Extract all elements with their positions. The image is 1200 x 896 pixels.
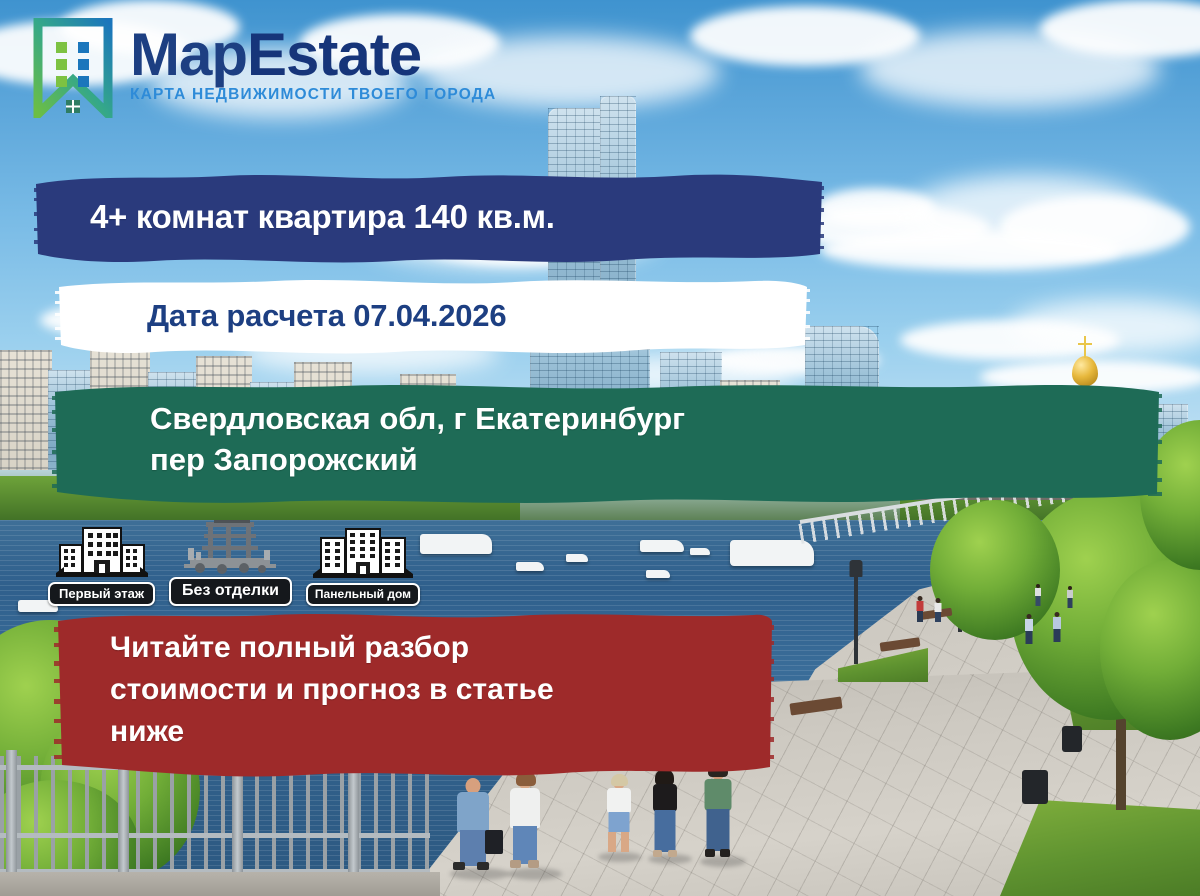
badge-panel-house[interactable]: Панельный дом (306, 524, 420, 606)
brand-title: MapEstate (130, 26, 496, 84)
banner-cta-line2: стоимости и прогноз в статье (110, 669, 554, 711)
banner-cta: Читайте полный разбор стоимости и прогно… (54, 605, 774, 785)
unfinished-building-icon (178, 518, 282, 574)
banner-cta-line1: Читайте полный разбор (110, 627, 554, 669)
banner-cta-text: Читайте полный разбор стоимости и прогно… (110, 627, 554, 753)
badge-no-finishing[interactable]: Без отделки (169, 518, 292, 606)
panel-highrise-icon (313, 524, 413, 580)
banner-rooms-text: 4+ комнат квартира 140 кв.м. (90, 198, 555, 236)
badge-icon-wrap (313, 524, 413, 580)
banner-date: Дата расчета 07.04.2026 (55, 275, 810, 357)
overlay-content: MapEstate КАРТА НЕДВИЖИМОСТИ ТВОЕГО ГОРО… (0, 0, 1200, 896)
banner-cta-line3: ниже (110, 711, 554, 753)
banner-address-line1: Свердловская обл, г Екатеринбург (150, 398, 685, 439)
badge-label: Первый этаж (48, 582, 155, 606)
brand-title-estate: Estate (247, 21, 421, 88)
badge-icon-wrap (178, 518, 282, 574)
brand-title-map: Map (130, 21, 247, 88)
feature-badges: Первый этаж (48, 518, 420, 606)
badge-label: Без отделки (169, 577, 292, 606)
bookmark-building-icon (30, 18, 116, 118)
apartment-building-icon (56, 523, 148, 579)
badge-label: Панельный дом (306, 583, 420, 606)
banner-rooms: 4+ комнат квартира 140 кв.м. (34, 168, 824, 266)
banner-date-text: Дата расчета 07.04.2026 (147, 298, 506, 334)
banner-address-line2: пер Запорожский (150, 439, 685, 480)
brand-tagline: КАРТА НЕДВИЖИМОСТИ ТВОЕГО ГОРОДА (130, 86, 496, 104)
badge-icon-wrap (56, 523, 148, 579)
banner-address: Свердловская обл, г Екатеринбург пер Зап… (52, 378, 1162, 508)
brand-logo[interactable]: MapEstate КАРТА НЕДВИЖИМОСТИ ТВОЕГО ГОРО… (30, 18, 496, 118)
badge-first-floor[interactable]: Первый этаж (48, 523, 155, 606)
banner-address-text: Свердловская обл, г Екатеринбург пер Зап… (150, 398, 685, 480)
